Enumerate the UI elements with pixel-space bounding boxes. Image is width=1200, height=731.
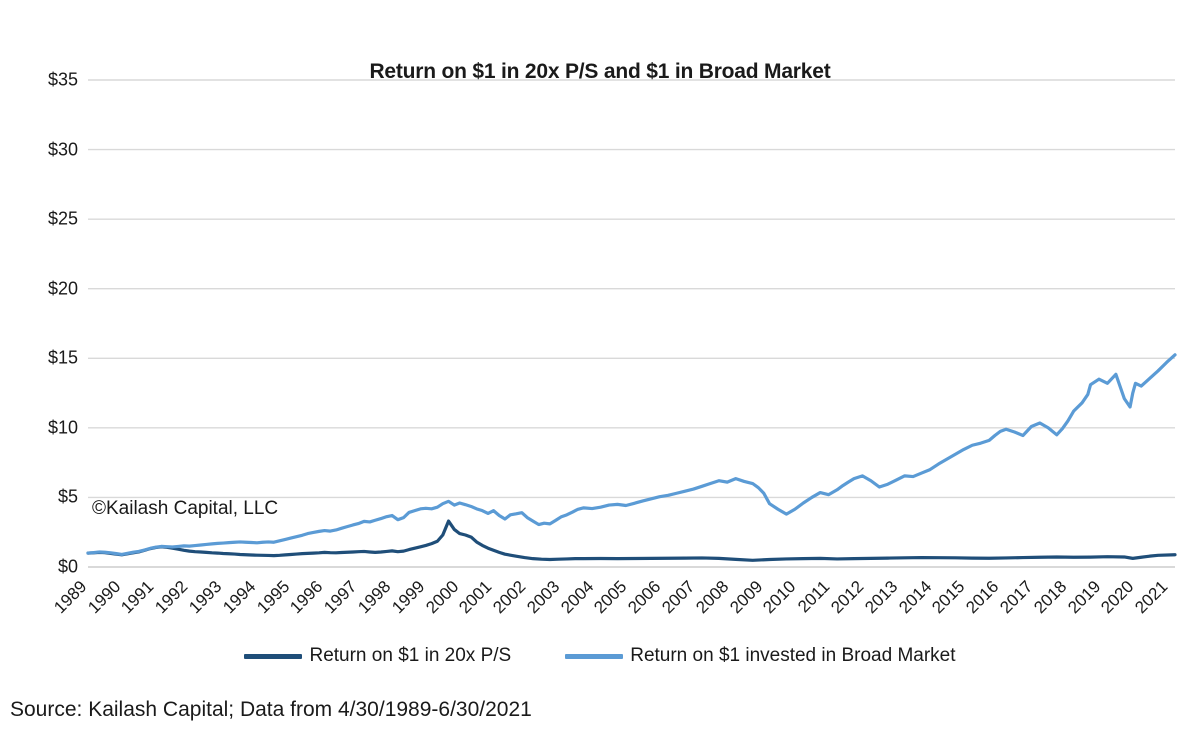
legend-item-twenty-x-ps[interactable]: Return on $1 in 20x P/S xyxy=(244,645,511,667)
legend-label: Return on $1 in 20x P/S xyxy=(309,645,511,667)
chart-container: Return on $1 in 20x P/S and $1 in Broad … xyxy=(0,0,1200,731)
chart-legend: Return on $1 in 20x P/SReturn on $1 inve… xyxy=(0,645,1200,667)
copyright-watermark: ©Kailash Capital, LLC xyxy=(92,498,278,520)
legend-swatch-icon xyxy=(565,654,623,659)
legend-label: Return on $1 invested in Broad Market xyxy=(630,645,955,667)
source-note: Source: Kailash Capital; Data from 4/30/… xyxy=(10,698,532,722)
legend-item-broad-market[interactable]: Return on $1 invested in Broad Market xyxy=(565,645,955,667)
x-axis: 1989199019911992199319941995199619971998… xyxy=(0,0,1200,731)
legend-swatch-icon xyxy=(244,654,302,659)
